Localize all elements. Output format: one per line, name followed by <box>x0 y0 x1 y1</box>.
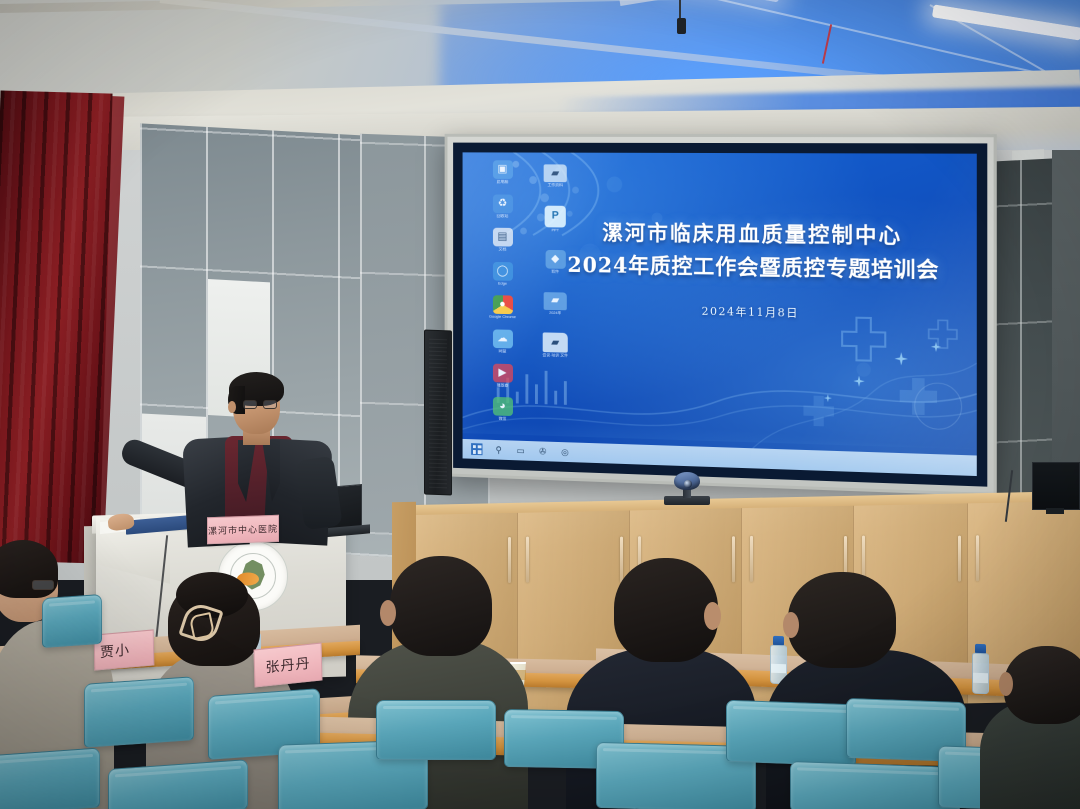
chair[interactable] <box>84 676 194 748</box>
computer-icon: ▣ <box>492 160 512 179</box>
audience-member-5-ear <box>783 612 799 638</box>
slide-title-block: 漯河市临床用血质量控制中心 2024年质控工作会暨质控专题培训会 <box>553 219 955 285</box>
nameplate-jia: 贾小 <box>94 629 155 670</box>
edge-browser-icon: ◯ <box>492 262 512 281</box>
audience-member-4-ear <box>704 602 721 630</box>
cabinet-handle[interactable] <box>526 537 529 583</box>
search-icon[interactable]: ⚲ <box>493 444 504 456</box>
desktop-icon-folder-meeting[interactable]: ▰ 会议-培训 文件 <box>521 332 590 359</box>
bottle-label <box>771 664 786 674</box>
red-curtain <box>0 91 113 564</box>
recycle-bin-icon: ♻ <box>492 194 512 213</box>
chair[interactable] <box>108 759 248 809</box>
screen-bezel: ▣ 此电脑 ♻ 回收站 ▤ 文档 ◯ Edge <box>453 143 987 487</box>
desktop-icon-wechat[interactable]: ◕ 微信 <box>468 396 537 422</box>
glasses-icon <box>32 580 54 590</box>
cabinet-handle[interactable] <box>750 536 753 582</box>
cabinet-handle[interactable] <box>958 536 961 582</box>
audience-member-6-head <box>1004 646 1080 724</box>
presenter-ear <box>228 401 236 413</box>
ptz-camera-lens <box>684 480 692 488</box>
bottle-label <box>973 672 988 683</box>
desktop-icon-folder-work[interactable]: ▰ 工作资料 <box>521 164 590 188</box>
wall-speaker <box>424 330 452 496</box>
ceiling-microphone <box>677 18 686 34</box>
folder-icon: ▰ <box>544 164 567 182</box>
water-bottle[interactable] <box>972 644 989 695</box>
nameplate-zhang: 张丹丹 <box>254 642 323 687</box>
cabinet-handle[interactable] <box>620 537 623 583</box>
audience-member-5-head <box>788 572 896 668</box>
audience-member-4-head <box>614 558 718 662</box>
desktop-icon-media-player[interactable]: ▶ 播放器 <box>468 363 537 389</box>
podium-nameplate: 漯河市中心医院 <box>207 515 279 545</box>
chair[interactable] <box>790 761 960 809</box>
cabinet-handle[interactable] <box>508 537 511 583</box>
bokeh-dot <box>607 176 623 192</box>
cloud-drive-icon: ☁ <box>492 329 512 348</box>
side-monitor-stand <box>1046 508 1064 514</box>
cabinet-handle[interactable] <box>732 536 735 582</box>
cabinet-handle[interactable] <box>976 535 979 581</box>
wechat-icon: ◕ <box>492 397 512 416</box>
side-monitor[interactable] <box>1032 462 1080 510</box>
audience-member-6-ear <box>999 672 1013 696</box>
conference-room-scene: ▣ 此电脑 ♻ 回收站 ▤ 文档 ◯ Edge <box>0 0 1080 809</box>
document-icon: ▤ <box>492 228 512 247</box>
audience-member-3-head <box>390 556 492 656</box>
slide-title-line-1: 漯河市临床用血质量控制中心 <box>553 219 955 250</box>
audience-member-3-ear <box>380 600 396 626</box>
chair[interactable] <box>376 700 496 760</box>
projection-screen-frame: ▣ 此电脑 ♻ 回收站 ▤ 文档 ◯ Edge <box>445 134 997 496</box>
start-button[interactable] <box>471 443 482 455</box>
folder3-icon: ▰ <box>543 333 568 353</box>
bottle-body <box>972 653 989 695</box>
slide-date: 2024年11月8日 <box>553 300 955 323</box>
browser-taskbar-icon[interactable]: ◎ <box>559 446 571 458</box>
app-taskbar-icon[interactable]: ✇ <box>537 445 549 457</box>
media-player-icon: ▶ <box>492 363 512 382</box>
chair[interactable] <box>726 700 856 767</box>
task-view-icon[interactable]: ▭ <box>515 445 526 457</box>
projection-screen-display[interactable]: ▣ 此电脑 ♻ 回收站 ▤ 文档 ◯ Edge <box>463 152 977 476</box>
chair[interactable] <box>0 747 100 809</box>
chair[interactable] <box>42 594 102 648</box>
glasses-icon <box>243 400 279 410</box>
slide-logo-badge <box>914 382 962 430</box>
chrome-browser-icon: ● <box>492 296 512 315</box>
